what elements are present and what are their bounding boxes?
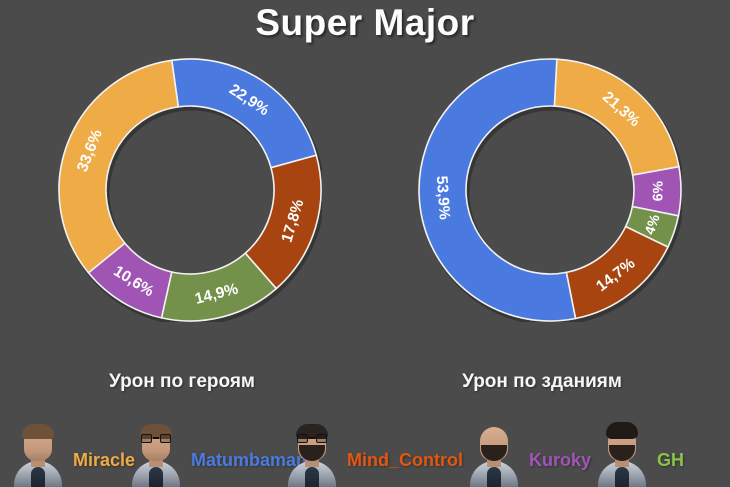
infographic-page: Super Major 22,9%17,8%14,9%10,6%33,6% Ур… <box>0 0 730 487</box>
glasses-icon <box>141 434 171 443</box>
legend-label-mind_control: Mind_Control <box>347 450 463 471</box>
donut-chart-damage-to-buildings: 21,3%6%4%14,7%53,9% <box>418 58 682 322</box>
page-title: Super Major <box>0 2 730 44</box>
glasses-icon <box>297 434 327 443</box>
buildings-label-matumbaman: 53,9% <box>433 175 453 220</box>
legend-item-kuroky[interactable]: Kuroky <box>468 407 591 487</box>
buildings-label-kuroky: 6% <box>649 180 665 201</box>
legend-label-miracle: Miracle <box>73 450 135 471</box>
donut-svg-damage-to-heroes: 22,9%17,8%14,9%10,6%33,6% <box>58 58 322 322</box>
legend-item-miracle[interactable]: Miracle <box>12 407 135 487</box>
player-legend: MiracleMatumbamanMind_ControlKurokyGH <box>0 407 730 487</box>
chart-caption-damage-to-buildings: Урон по зданиям <box>392 371 692 393</box>
legend-item-mind_control[interactable]: Mind_Control <box>286 407 463 487</box>
heroes-slice-matumbaman[interactable] <box>172 59 317 168</box>
legend-item-matumbaman[interactable]: Matumbaman <box>130 407 307 487</box>
avatar-mind_control <box>286 409 338 487</box>
donut-svg-damage-to-buildings: 21,3%6%4%14,7%53,9% <box>418 58 682 322</box>
avatar-kuroky <box>468 409 520 487</box>
legend-item-gh[interactable]: GH <box>596 407 684 487</box>
avatar-matumbaman <box>130 409 182 487</box>
avatar-miracle <box>12 409 64 487</box>
legend-label-kuroky: Kuroky <box>529 450 591 471</box>
donut-chart-damage-to-heroes: 22,9%17,8%14,9%10,6%33,6% <box>58 58 322 322</box>
chart-caption-damage-to-heroes: Урон по героям <box>32 371 332 393</box>
legend-label-gh: GH <box>657 450 684 471</box>
avatar-gh <box>596 409 648 487</box>
